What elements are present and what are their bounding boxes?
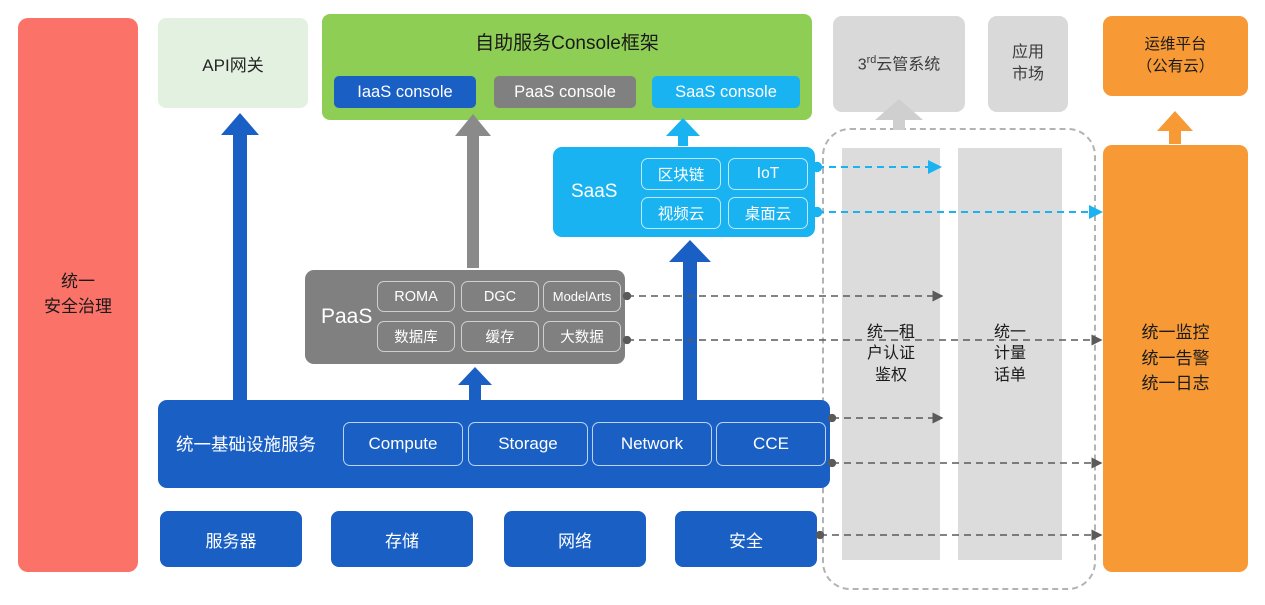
paas-chip-database-label: 数据库 <box>394 326 438 347</box>
paas-chip-dgc: DGC <box>461 281 539 312</box>
resource-server-label: 服务器 <box>206 527 257 552</box>
arrow-iaas-to-paas <box>458 367 492 400</box>
arrow-saas-to-saas-console <box>666 118 700 146</box>
billing-line2: 计量 <box>994 343 1026 365</box>
saas-chip-desktop-cloud-label: 桌面云 <box>745 202 792 224</box>
self-service-console-framework: 自助服务Console框架 IaaS console PaaS console … <box>322 14 812 120</box>
resource-box-security: 安全 <box>675 511 817 567</box>
architecture-diagram: 统一 安全治理 API网关 自助服务Console框架 IaaS console… <box>0 0 1265 605</box>
iaas-chip-network: Network <box>592 422 712 466</box>
paas-chip-bigdata: 大数据 <box>543 321 621 352</box>
arrow-paas-to-console <box>455 114 491 268</box>
saas-chip-blockchain: 区块链 <box>641 158 721 190</box>
app-market-line1: 应用 <box>1012 42 1044 64</box>
iaas-chip-compute: Compute <box>343 422 463 466</box>
iaas-console-label: IaaS console <box>357 83 452 102</box>
paas-layer: PaaS ROMA DGC ModelArts 数据库 缓存 大数据 <box>305 270 625 364</box>
iaas-chip-cce-label: CCE <box>753 434 789 454</box>
paas-chip-modelarts-label: ModelArts <box>553 289 612 304</box>
saas-console-chip: SaaS console <box>652 76 800 108</box>
iaas-console-chip: IaaS console <box>334 76 476 108</box>
resource-storage-label: 存储 <box>385 527 419 552</box>
paas-chip-cache: 缓存 <box>461 321 539 352</box>
paas-console-chip: PaaS console <box>494 76 636 108</box>
resource-box-server: 服务器 <box>160 511 302 567</box>
saas-chip-blockchain-label: 区块链 <box>658 163 705 185</box>
unified-infrastructure-service-bar: 统一基础设施服务 Compute Storage Network CCE <box>158 400 830 488</box>
billing-line1: 统一 <box>994 322 1026 344</box>
auth-line2: 户认证 <box>867 343 915 365</box>
auth-line1: 统一租 <box>867 322 915 344</box>
unified-tenant-auth-column: 统一租 户认证 鉴权 <box>842 148 940 560</box>
paas-layer-label: PaaS <box>321 305 372 329</box>
saas-chip-video-cloud: 视频云 <box>641 197 721 229</box>
paas-chip-database: 数据库 <box>377 321 455 352</box>
ops-platform-line1: 运维平台 <box>1137 34 1215 56</box>
paas-chip-roma-label: ROMA <box>394 289 438 305</box>
paas-chip-roma: ROMA <box>377 281 455 312</box>
paas-chip-dgc-label: DGC <box>484 289 516 305</box>
billing-line3: 话单 <box>994 365 1026 387</box>
console-framework-title: 自助服务Console框架 <box>322 28 812 55</box>
third-party-superscript: rd <box>867 54 877 66</box>
arrow-iaas-to-api-gateway <box>221 113 259 400</box>
iaas-chip-network-label: Network <box>621 434 683 454</box>
saas-console-label: SaaS console <box>675 83 777 102</box>
third-party-suffix: 云管系统 <box>876 56 940 73</box>
unified-security-governance-panel: 统一 安全治理 <box>18 18 138 572</box>
iaas-chip-cce: CCE <box>716 422 826 466</box>
ops-panel-line1: 统一监控 <box>1142 320 1210 346</box>
saas-layer-label: SaaS <box>571 181 617 203</box>
saas-chip-iot-label: IoT <box>757 165 779 183</box>
ops-platform-box: 运维平台 （公有云） <box>1103 16 1248 96</box>
api-gateway-label: API网关 <box>202 51 263 76</box>
arrow-ops-panel-to-ops-platform <box>1157 111 1193 144</box>
paas-chip-modelarts: ModelArts <box>543 281 621 312</box>
auth-line3: 鉴权 <box>867 365 915 387</box>
security-label-line1: 统一 <box>44 270 112 295</box>
saas-chip-iot: IoT <box>728 158 808 190</box>
paas-chip-bigdata-label: 大数据 <box>560 326 604 347</box>
third-party-cloud-management-box: 3rd云管系统 <box>833 16 965 112</box>
resource-security-label: 安全 <box>729 527 763 552</box>
ops-panel-line2: 统一告警 <box>1142 346 1210 372</box>
iaas-chip-storage-label: Storage <box>498 434 558 454</box>
resource-network-label: 网络 <box>558 527 592 552</box>
ops-panel-line3: 统一日志 <box>1142 371 1210 397</box>
unified-ops-panel: 统一监控 统一告警 统一日志 <box>1103 145 1248 572</box>
iaas-chip-compute-label: Compute <box>369 434 438 454</box>
iaas-layer-label: 统一基础设施服务 <box>176 432 316 457</box>
saas-chip-desktop-cloud: 桌面云 <box>728 197 808 229</box>
unified-metering-billing-column: 统一 计量 话单 <box>958 148 1062 560</box>
arrow-iaas-to-saas <box>669 240 711 400</box>
resource-box-storage: 存储 <box>331 511 473 567</box>
saas-layer: SaaS 区块链 IoT 视频云 桌面云 <box>553 147 815 237</box>
api-gateway-box: API网关 <box>158 18 308 108</box>
resource-box-network: 网络 <box>504 511 646 567</box>
third-party-prefix: 3 <box>858 56 867 73</box>
ops-platform-line2: （公有云） <box>1137 56 1215 78</box>
app-market-box: 应用 市场 <box>988 16 1068 112</box>
security-label-line2: 安全治理 <box>44 295 112 320</box>
paas-console-label: PaaS console <box>514 83 616 102</box>
paas-chip-cache-label: 缓存 <box>486 326 515 347</box>
saas-chip-video-cloud-label: 视频云 <box>658 202 705 224</box>
app-market-line2: 市场 <box>1012 64 1044 86</box>
iaas-chip-storage: Storage <box>468 422 588 466</box>
